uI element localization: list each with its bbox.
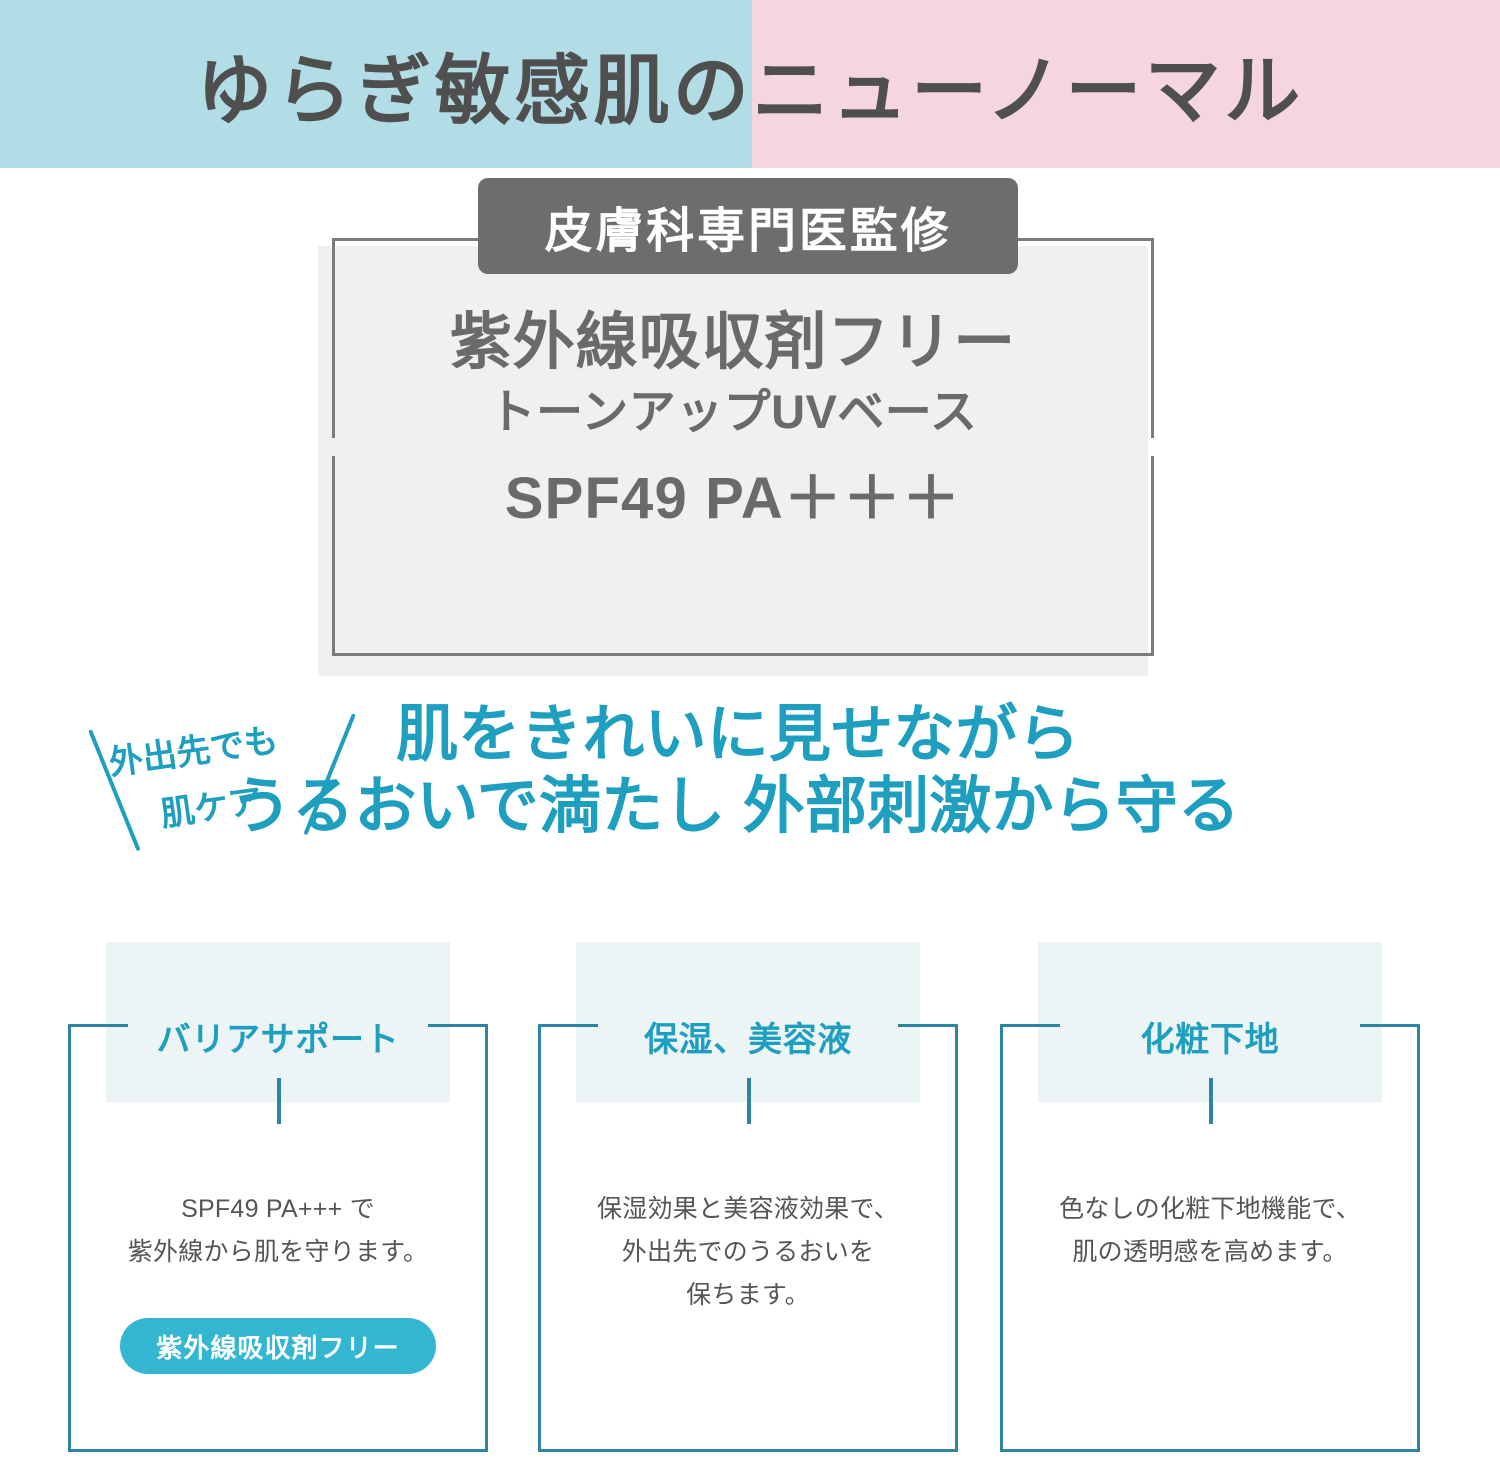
hero-spf-rating: SPF49 PA＋＋＋ xyxy=(318,448,1148,550)
feature-card-makeup-base: 化粧下地 色なしの化粧下地機能で、 肌の透明感を高めます。 xyxy=(990,930,1430,1460)
card-title: バリアサポート xyxy=(58,1012,498,1061)
card-pill-badge: 紫外線吸収剤フリー xyxy=(120,1318,436,1374)
feature-card-moisture-serum: 保湿、美容液 保湿効果と美容液効果で、 外出先でのうるおいを 保ちます。 xyxy=(528,930,968,1460)
card-title: 化粧下地 xyxy=(990,1012,1430,1061)
card-body-line: 色なしの化粧下地機能で、 xyxy=(1000,1188,1420,1231)
page-title: ゆらぎ敏感肌のニューノーマル xyxy=(0,0,1500,168)
card-divider xyxy=(1209,1078,1213,1124)
card-body-line: SPF49 PA+++ で xyxy=(68,1188,488,1231)
card-body: 色なしの化粧下地機能で、 肌の透明感を高めます。 xyxy=(1000,1188,1420,1274)
catch-main-line-2: うるおいで満たし 外部刺激から守る xyxy=(230,769,1470,845)
hero-headline-uv-absorber-free: 紫外線吸収剤フリー xyxy=(318,308,1148,377)
card-bracket-base xyxy=(1000,1449,1420,1452)
card-body-line: 肌の透明感を高めます。 xyxy=(1000,1231,1420,1274)
hero-text-block: 紫外線吸収剤フリー トーンアップUVベース SPF49 PA＋＋＋ xyxy=(318,308,1148,549)
card-body-line: 保湿効果と美容液効果で、 xyxy=(538,1188,958,1231)
catch-main-text: 肌をきれいに見せながら うるおいで満たし 外部刺激から守る xyxy=(230,700,1470,845)
header-band: ゆらぎ敏感肌のニューノーマル xyxy=(0,0,1500,168)
feature-cards: バリアサポート SPF49 PA+++ で 紫外線から肌を守ります。 紫外線吸収… xyxy=(0,930,1500,1472)
hero-section: 皮膚科専門医監修 紫外線吸収剤フリー トーンアップUVベース SPF49 PA＋… xyxy=(0,168,1500,698)
card-divider xyxy=(277,1078,281,1124)
dermatologist-supervised-badge: 皮膚科専門医監修 xyxy=(478,178,1018,274)
card-divider xyxy=(747,1078,751,1124)
catch-main-line-1: 肌をきれいに見せながら xyxy=(230,700,1470,769)
card-title: 保湿、美容液 xyxy=(528,1012,968,1061)
card-body-line: 外出先でのうるおいを xyxy=(538,1231,958,1274)
catch-copy-section: 外出先でも 肌ケア 肌をきれいに見せながら うるおいで満たし 外部刺激から守る xyxy=(0,700,1500,895)
card-body-line: 紫外線から肌を守ります。 xyxy=(68,1231,488,1274)
card-bracket-base xyxy=(68,1449,488,1452)
card-body-line: 保ちます。 xyxy=(538,1274,958,1317)
card-bracket-base xyxy=(538,1449,958,1452)
card-body: SPF49 PA+++ で 紫外線から肌を守ります。 xyxy=(68,1188,488,1274)
feature-card-barrier-support: バリアサポート SPF49 PA+++ で 紫外線から肌を守ります。 紫外線吸収… xyxy=(58,930,498,1460)
hero-subline-tone-up-uv-base: トーンアップUVベース xyxy=(318,377,1148,448)
card-body: 保湿効果と美容液効果で、 外出先でのうるおいを 保ちます。 xyxy=(538,1188,958,1317)
